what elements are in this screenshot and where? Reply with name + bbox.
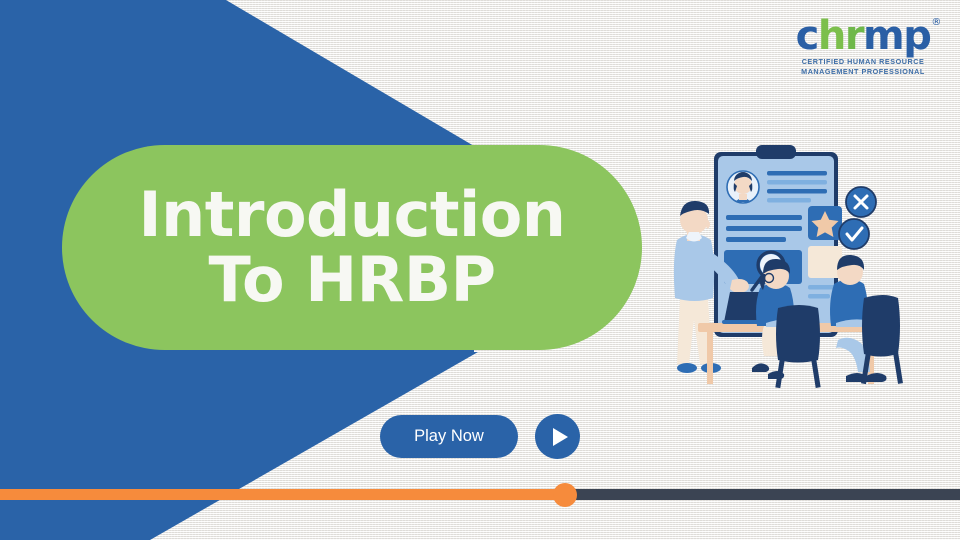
logo-letter-h: h xyxy=(818,13,845,59)
registered-trademark-icon: ® xyxy=(931,18,941,28)
play-now-button[interactable]: Play Now xyxy=(380,415,518,458)
logo-wordmark: chrmp® xyxy=(796,16,931,56)
play-icon-button[interactable] xyxy=(535,414,580,459)
slide-canvas: Introduction To HRBP chrmp® CERTIFIED HU… xyxy=(0,0,960,540)
hr-interview-illustration xyxy=(668,140,924,392)
playback-controls: Play Now xyxy=(380,414,580,459)
logo-letter-p: p xyxy=(903,13,930,59)
page-title: Introduction To HRBP xyxy=(139,183,566,312)
chair-right xyxy=(861,295,903,384)
reject-badge-x xyxy=(846,187,876,217)
play-triangle-icon xyxy=(553,428,568,446)
logo-letter-r: r xyxy=(845,13,863,59)
logo-letter-c: c xyxy=(796,13,818,59)
brand-logo: chrmp® CERTIFIED HUMAN RESOURCE MANAGEME… xyxy=(788,16,938,78)
progress-fill xyxy=(0,489,565,500)
progress-bar[interactable] xyxy=(0,489,960,500)
approve-badge-check xyxy=(839,219,869,249)
chair-left xyxy=(775,305,820,388)
logo-tagline: CERTIFIED HUMAN RESOURCE MANAGEMENT PROF… xyxy=(788,57,938,78)
logo-letter-m: m xyxy=(863,13,903,59)
progress-handle[interactable] xyxy=(553,483,577,507)
title-pill: Introduction To HRBP xyxy=(62,145,642,350)
